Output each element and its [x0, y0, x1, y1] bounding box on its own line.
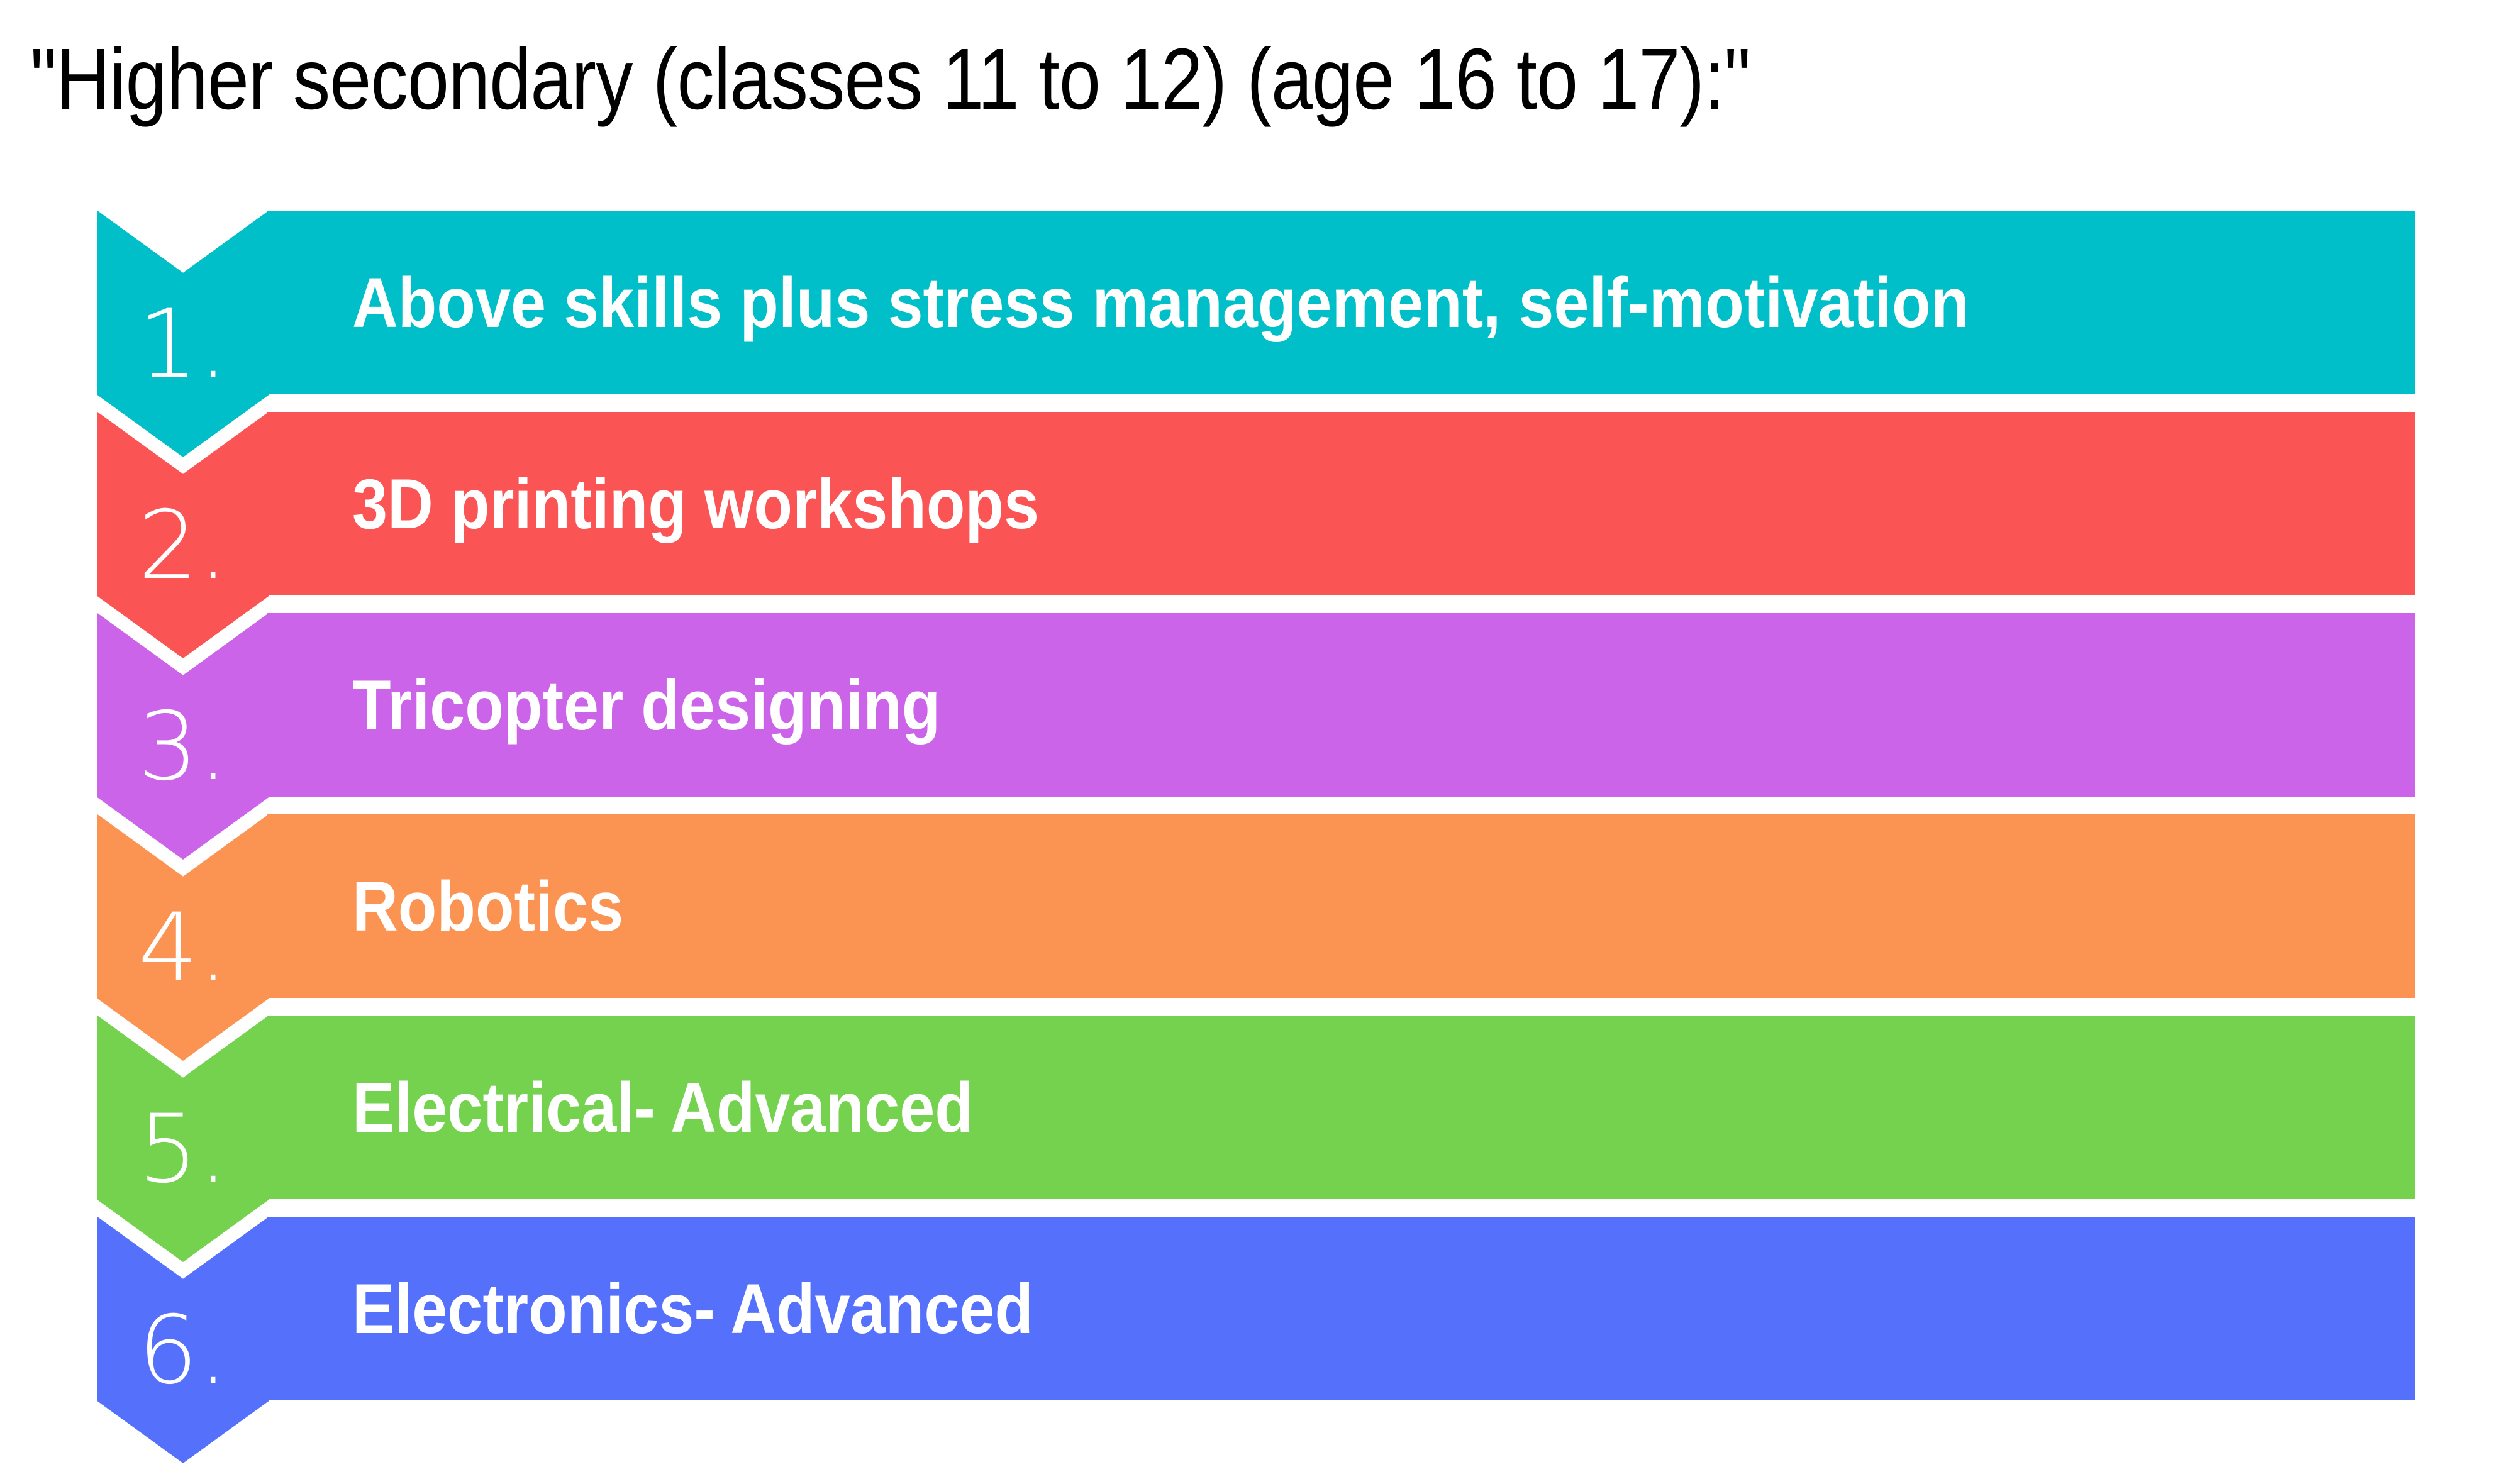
chevron-row-label: Electronics- Advanced	[352, 1217, 1033, 1400]
chevron-row-label: Tricopter designing	[352, 613, 940, 797]
chevron-row-label: 3D printing workshops	[352, 412, 1039, 595]
chevron-row[interactable]: 6.Electronics- Advanced	[0, 1217, 2507, 1463]
chevron-down-icon	[97, 1217, 269, 1463]
chevron-row-label: Robotics	[352, 814, 623, 998]
chevron-row-label: Above skills plus stress management, sel…	[352, 211, 1969, 394]
chevron-list: 1.Above skills plus stress management, s…	[0, 0, 2507, 1484]
chevron-row-label: Electrical- Advanced	[352, 1016, 974, 1199]
slide-canvas: "Higher secondary (classes 11 to 12) (ag…	[0, 0, 2507, 1484]
